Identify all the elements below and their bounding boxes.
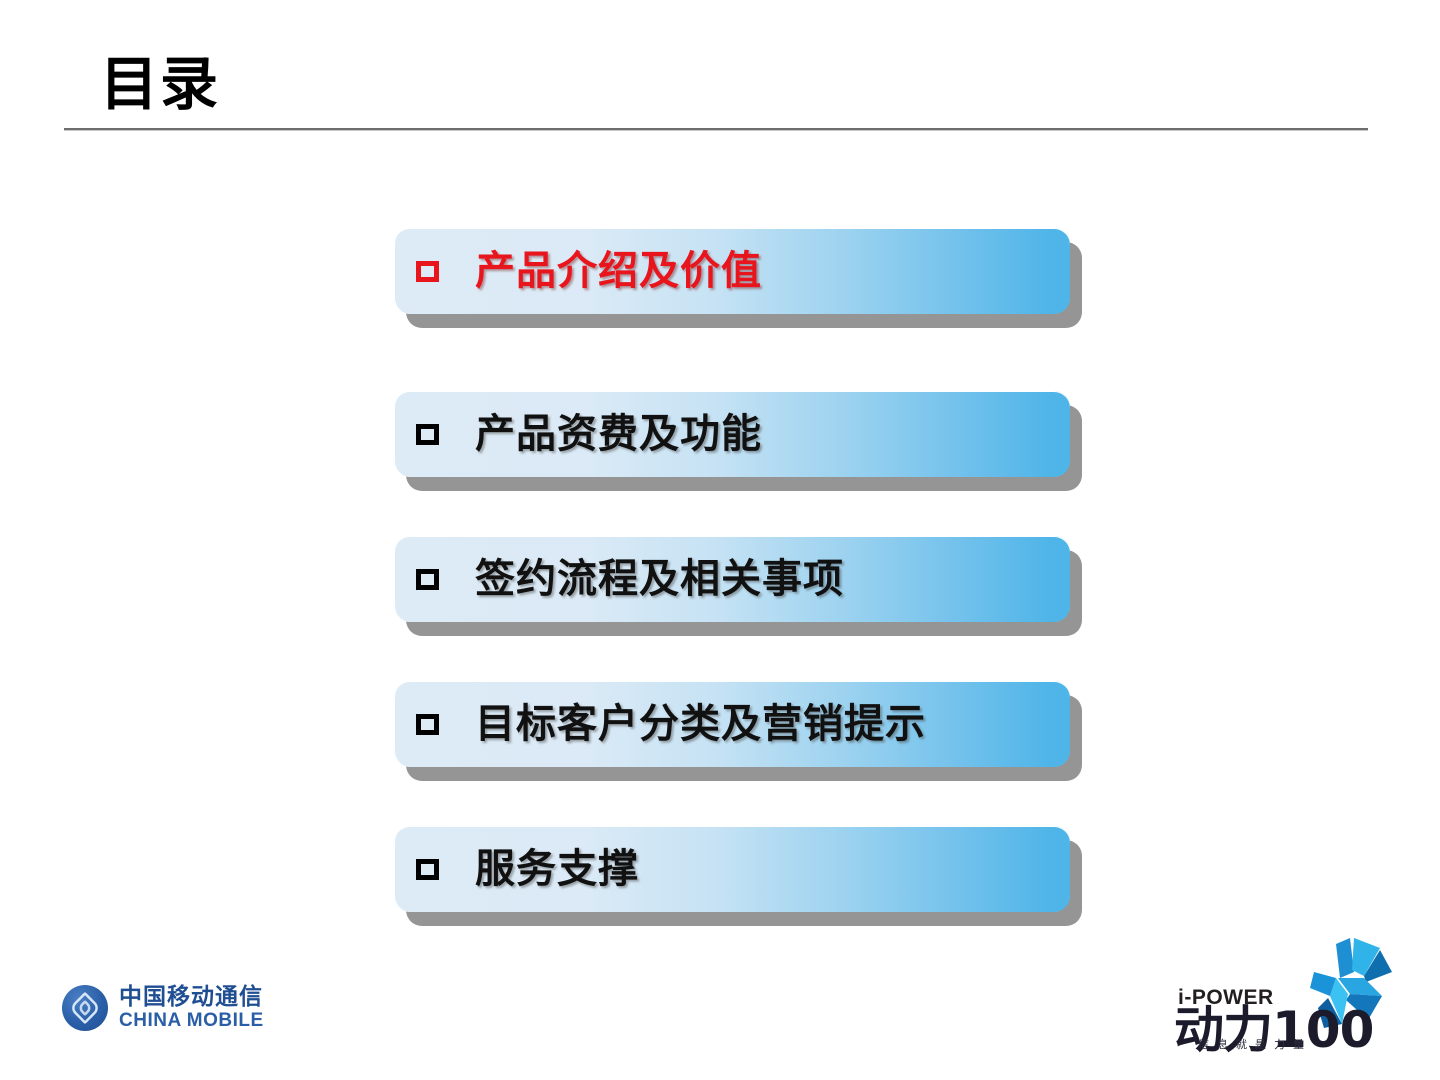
slide-canvas: 目录 产品介绍及价值 产品资费及功能 签约流程及相关事项 <box>0 0 1440 1080</box>
agenda-item-3[interactable]: 签约流程及相关事项 <box>394 536 1070 622</box>
agenda-item-1[interactable]: 产品介绍及价值 <box>394 228 1070 314</box>
china-mobile-name-en: CHINA MOBILE <box>119 1010 264 1031</box>
ipower-logo: i-POWER 动力100 信息就是力量 <box>1168 938 1398 1058</box>
agenda-item-label: 目标客户分类及营销提示 <box>475 702 926 746</box>
agenda-item-label: 签约流程及相关事项 <box>475 557 844 601</box>
agenda-item-5[interactable]: 服务支撑 <box>394 826 1070 912</box>
bar-surface[interactable]: 签约流程及相关事项 <box>394 536 1070 622</box>
square-bullet-icon <box>416 261 439 282</box>
agenda-item-4[interactable]: 目标客户分类及营销提示 <box>394 681 1070 767</box>
bar-surface[interactable]: 服务支撑 <box>394 826 1070 912</box>
china-mobile-name-cn: 中国移动通信 <box>119 985 264 1010</box>
bar-surface[interactable]: 目标客户分类及营销提示 <box>394 681 1070 767</box>
bar-surface[interactable]: 产品介绍及价值 <box>394 228 1070 314</box>
square-bullet-icon <box>416 424 439 445</box>
china-mobile-logo: 中国移动通信 CHINA MOBILE <box>62 985 264 1031</box>
agenda-item-2[interactable]: 产品资费及功能 <box>394 391 1070 477</box>
square-bullet-icon <box>416 714 439 735</box>
square-bullet-icon <box>416 859 439 880</box>
agenda-item-label: 产品介绍及价值 <box>475 249 762 293</box>
china-mobile-logo-icon <box>62 985 108 1031</box>
square-bullet-icon <box>416 569 439 590</box>
bar-surface[interactable]: 产品资费及功能 <box>394 391 1070 477</box>
agenda-list: 产品介绍及价值 产品资费及功能 签约流程及相关事项 目标客户分类及营销提示 <box>0 0 1440 1080</box>
agenda-item-label: 服务支撑 <box>475 847 639 891</box>
ipower-tagline: 信息就是力量 <box>1198 1038 1312 1051</box>
china-mobile-wordmark: 中国移动通信 CHINA MOBILE <box>119 985 264 1031</box>
agenda-item-label: 产品资费及功能 <box>475 412 762 456</box>
